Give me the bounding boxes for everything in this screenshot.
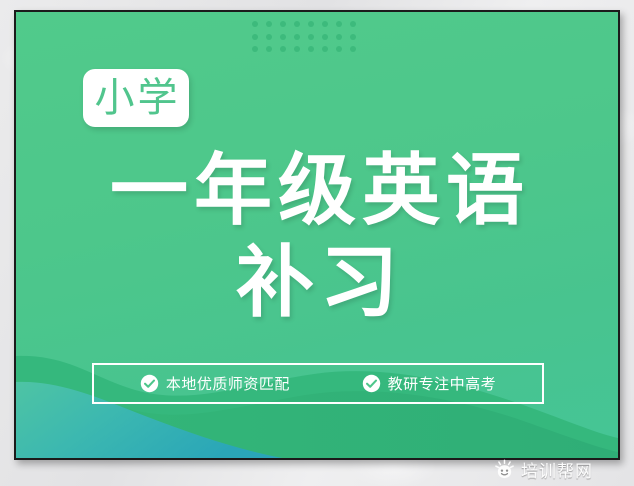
dot [280, 34, 286, 40]
dot [294, 46, 300, 52]
dot [294, 21, 300, 27]
dot-grid-ornament [252, 21, 364, 59]
dot [266, 34, 272, 40]
feature-label-1: 本地优质师资匹配 [166, 373, 290, 394]
dot [280, 21, 286, 27]
dot [336, 21, 342, 27]
dot [322, 21, 328, 27]
dot [350, 46, 356, 52]
dot [336, 46, 342, 52]
dot [266, 46, 272, 52]
watermark: 培训帮网 [494, 456, 593, 482]
dot [350, 34, 356, 40]
poster-card: 小学 一年级英语 补习 本地优质师资匹配 教研专注中高考 [14, 10, 620, 460]
feature-item-1: 本地优质师资匹配 [140, 373, 290, 394]
level-badge-label: 小学 [92, 78, 181, 118]
dot [294, 34, 300, 40]
watermark-label: 培训帮网 [521, 457, 593, 482]
sun-face-icon [494, 459, 515, 480]
dot [280, 46, 286, 52]
dot [322, 46, 328, 52]
dot [252, 21, 258, 27]
check-circle-icon [140, 374, 159, 393]
feature-bar: 本地优质师资匹配 教研专注中高考 [92, 363, 544, 404]
feature-item-2: 教研专注中高考 [362, 373, 497, 394]
level-badge: 小学 [83, 69, 189, 127]
check-circle-icon [362, 374, 381, 393]
feature-label-2: 教研专注中高考 [388, 373, 497, 394]
dot [252, 46, 258, 52]
dot [308, 34, 314, 40]
dot [322, 34, 328, 40]
dot [350, 21, 356, 27]
dot [266, 21, 272, 27]
dot [308, 21, 314, 27]
dot [308, 46, 314, 52]
dot [336, 34, 342, 40]
dot [252, 34, 258, 40]
